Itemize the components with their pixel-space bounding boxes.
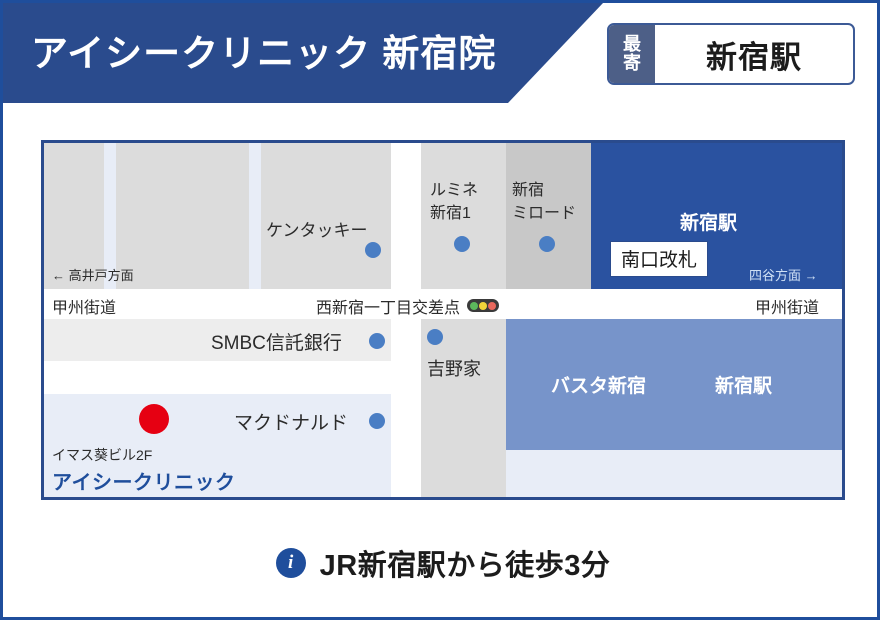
page-title: アイシークリニック 新宿院 — [31, 23, 496, 77]
poi-label-kfc: ケンタッキー — [266, 216, 368, 241]
signal-green — [470, 302, 478, 310]
info-icon: i — [276, 548, 306, 578]
road-label-koshu-right: 甲州街道 — [755, 294, 819, 318]
station-label-south: 新宿駅 — [715, 371, 772, 398]
footer: i JR新宿駅から徒歩3分 — [3, 523, 880, 603]
signal-yellow — [479, 302, 487, 310]
nearest-station-name: 新宿駅 — [655, 25, 853, 83]
poi-dot-smbc — [369, 333, 385, 349]
intersection-label: 西新宿一丁目交差点 — [316, 294, 460, 318]
clinic-floor-label: イマス葵ビル2F — [52, 445, 152, 465]
access-time-text: JR新宿駅から徒歩3分 — [320, 542, 611, 584]
road-label-koshu-left: 甲州街道 — [52, 294, 116, 318]
nearest-tag-line2: 寄 — [623, 54, 641, 73]
signal-red — [488, 302, 496, 310]
south-gate-label: 南口改札 — [610, 241, 708, 277]
map-block-yoshinoya — [421, 319, 506, 500]
clinic-access-map-card: アイシークリニック 新宿院 最 寄 新宿駅 ケンタッキー ルミネ 新宿1 新宿 … — [0, 0, 880, 620]
poi-label-mylord-line2: ミロード — [512, 199, 576, 223]
poi-label-lumine-line1: ルミネ — [430, 176, 478, 200]
map-block-nw-2 — [116, 143, 249, 289]
nearest-tag-line1: 最 — [623, 35, 641, 54]
poi-label-mylord-line1: 新宿 — [512, 176, 544, 200]
poi-label-lumine-line2: 新宿1 — [430, 199, 471, 223]
map-block-south-plaza — [506, 450, 842, 500]
poi-label-mcdonalds: マクドナルド — [234, 408, 348, 435]
header: アイシークリニック 新宿院 最 寄 新宿駅 — [3, 3, 880, 103]
map-canvas: ケンタッキー ルミネ 新宿1 新宿 ミロード 新宿駅 南口改札 四谷方面 → ←… — [41, 140, 845, 500]
poi-label-yoshinoya: 吉野家 — [427, 355, 481, 381]
poi-label-smbc: SMBC信託銀行 — [211, 328, 342, 355]
traffic-light-icon — [467, 299, 499, 312]
station-label-north: 新宿駅 — [680, 208, 737, 235]
poi-dot-lumine — [454, 236, 470, 252]
direction-west-label: ← 高井戸方面 — [52, 265, 134, 284]
clinic-name-label: アイシークリニック — [52, 466, 236, 495]
nearest-station-tag: 最 寄 — [609, 25, 655, 83]
poi-dot-kfc — [365, 242, 381, 258]
nearest-station-badge: 最 寄 新宿駅 — [607, 23, 855, 85]
direction-east-label: 四谷方面 → — [749, 265, 818, 284]
station-label-busta: バスタ新宿 — [551, 371, 646, 398]
poi-dot-mcdonalds — [369, 413, 385, 429]
poi-dot-mylord — [539, 236, 555, 252]
map-street-vertical-2 — [249, 143, 261, 289]
poi-dot-yoshinoya — [427, 329, 443, 345]
clinic-location-marker — [139, 404, 169, 434]
